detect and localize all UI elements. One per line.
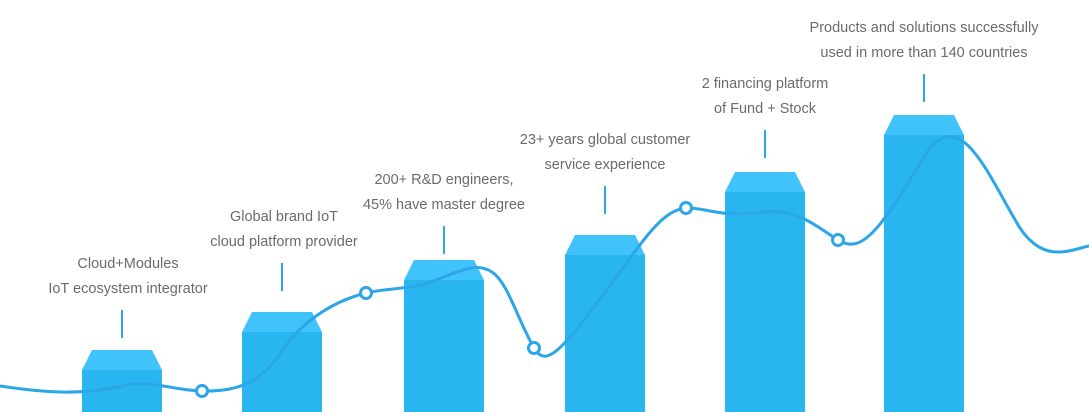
bar-label-line2: 45% have master degree — [356, 193, 532, 218]
bar-label-3: 200+ R&D engineers,45% have master degre… — [356, 168, 532, 218]
connector-marker-4 — [681, 203, 692, 214]
bar-label-1: Cloud+ModulesIoT ecosystem integrator — [40, 252, 216, 302]
label-tick-3 — [443, 226, 445, 254]
bar-label-line2: IoT ecosystem integrator — [40, 277, 216, 302]
bar-label-line2: used in more than 140 countries — [808, 41, 1040, 66]
infographic-chart: Cloud+ModulesIoT ecosystem integratorGlo… — [0, 0, 1089, 412]
bar-label-line1: Products and solutions successfully — [808, 16, 1040, 41]
bar-label-2: Global brand IoTcloud platform provider — [196, 205, 372, 255]
label-tick-5 — [764, 130, 766, 158]
bar-label-line1: Global brand IoT — [196, 205, 372, 230]
bar-label-5: 2 financing platformof Fund + Stock — [677, 72, 853, 122]
connector-marker-2 — [361, 288, 372, 299]
bar-label-line1: 23+ years global customer — [508, 128, 702, 153]
bar-label-line1: Cloud+Modules — [40, 252, 216, 277]
label-tick-4 — [604, 186, 606, 214]
bar-label-line1: 2 financing platform — [677, 72, 853, 97]
bar-label-line1: 200+ R&D engineers, — [356, 168, 532, 193]
connector-marker-1 — [197, 386, 208, 397]
connector-marker-3 — [529, 343, 540, 354]
bar-label-6: Products and solutions successfullyused … — [808, 16, 1040, 66]
bar-label-line2: service experience — [508, 153, 702, 178]
connector-marker-5 — [833, 235, 844, 246]
bar-label-line2: cloud platform provider — [196, 230, 372, 255]
bar-label-line2: of Fund + Stock — [677, 97, 853, 122]
label-tick-2 — [281, 263, 283, 291]
label-tick-1 — [121, 310, 123, 338]
bar-label-4: 23+ years global customerservice experie… — [508, 128, 702, 178]
label-tick-6 — [923, 74, 925, 102]
